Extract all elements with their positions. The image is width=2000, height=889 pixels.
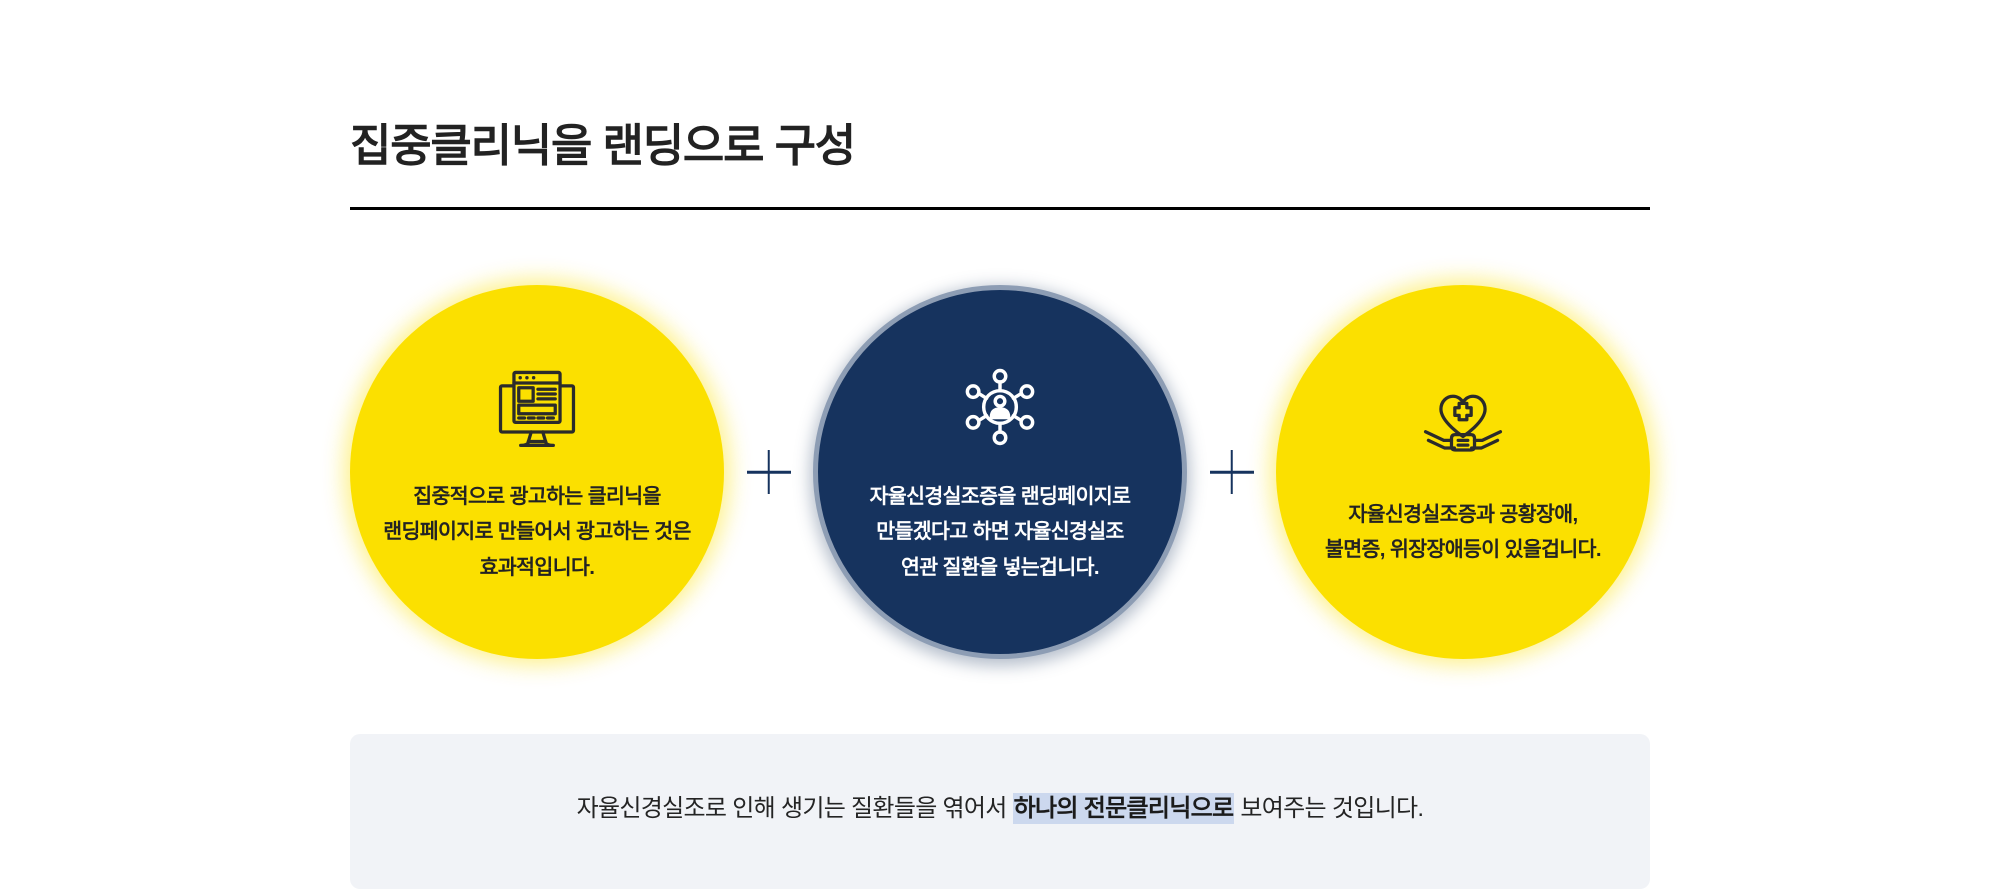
page-title: 집중클리닉을 랜딩으로 구성 — [350, 118, 1650, 174]
circle-focused-advertising-clinic[interactable]: 집중적으로 광고하는 클리닉을 랜딩페이지로 만들어서 광고하는 것은 효과적입… — [350, 285, 724, 659]
circle-autonomic-nervous-landing[interactable]: 자율신경실조증을 랜딩페이지로 만들겠다고 하면 자율신경실조 연관 질환을 넣… — [813, 285, 1187, 659]
hands-heart-cross-icon — [1415, 377, 1511, 473]
title-block: 집중클리닉을 랜딩으로 구성 — [350, 118, 1650, 174]
circle-related-disorders[interactable]: 자율신경실조증과 공황장애, 불면증, 위장장애등이 있을겁니다. — [1276, 285, 1650, 659]
banner-highlight: 하나의 전문클리닉으로 — [1013, 793, 1235, 824]
circle-caption: 자율신경실조증을 랜딩페이지로 만들겠다고 하면 자율신경실조 연관 질환을 넣… — [842, 479, 1159, 585]
plus-separator-2 — [1210, 450, 1254, 494]
banner-text: 자율신경실조로 인해 생기는 질환들을 엮어서 하나의 전문클리닉으로 보여주는… — [577, 788, 1424, 823]
person-network-icon — [952, 359, 1048, 455]
circle-caption: 자율신경실조증과 공황장애, 불면증, 위장장애등이 있을겁니다. — [1297, 497, 1629, 568]
plus-separator-1 — [747, 450, 791, 494]
slide-canvas: 집중클리닉을 랜딩으로 구성 — [0, 0, 2000, 861]
title-divider-rule — [350, 207, 1650, 210]
banner-text-after: 보여주는 것입니다. — [1234, 795, 1423, 822]
bottom-summary-banner: 자율신경실조로 인해 생기는 질환들을 엮어서 하나의 전문클리닉으로 보여주는… — [350, 734, 1650, 889]
desktop-landing-page-icon — [489, 359, 585, 455]
banner-text-before: 자율신경실조로 인해 생기는 질환들을 엮어서 — [577, 795, 1013, 822]
circle-caption: 집중적으로 광고하는 클리닉을 랜딩페이지로 만들어서 광고하는 것은 효과적입… — [355, 479, 718, 585]
circles-row: 집중적으로 광고하는 클리닉을 랜딩페이지로 만들어서 광고하는 것은 효과적입… — [350, 277, 1650, 667]
